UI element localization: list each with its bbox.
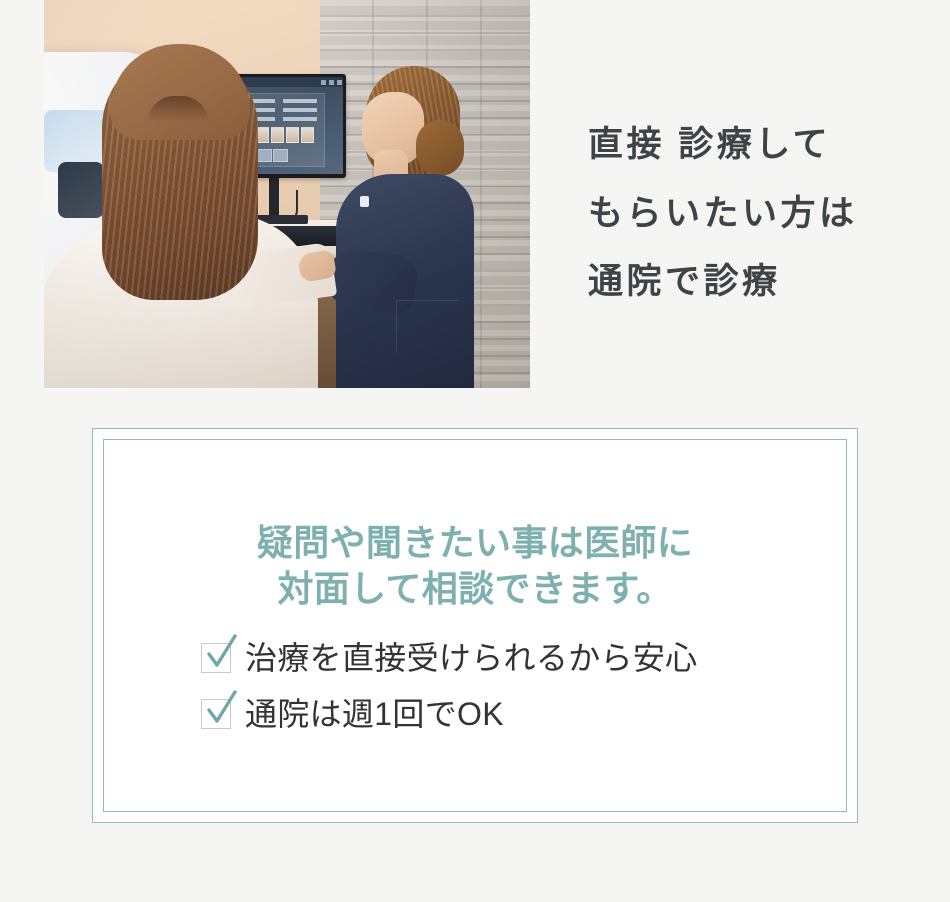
photo-unit-screen <box>58 162 104 218</box>
photo-staff-pocket <box>396 300 459 353</box>
card-heading-line-2: 対面して相談できます。 <box>104 566 846 612</box>
checkbox-checked-icon <box>201 643 231 673</box>
photo-staff-bun <box>416 120 464 176</box>
card-heading-line-1: 疑問や聞きたい事は医師に <box>104 520 846 566</box>
list-item: 通院は週1回でOK <box>201 686 806 742</box>
card-heading: 疑問や聞きたい事は医師に 対面して相談できます。 <box>104 520 846 612</box>
list-item: 治療を直接受けられるから安心 <box>201 630 806 686</box>
photo-staff-badge <box>360 196 369 207</box>
clinic-consultation-photo <box>44 0 530 388</box>
benefits-card-inner-border: 疑問や聞きたい事は医師に 対面して相談できます。 治療を直接受けられるから安心 <box>103 439 847 812</box>
benefit-list: 治療を直接受けられるから安心 通院は週1回でOK <box>201 630 806 742</box>
page-title: 直接 診療して もらいたい方は 通院で診療 <box>588 111 948 316</box>
benefit-label: 治療を直接受けられるから安心 <box>245 642 697 674</box>
benefit-label: 通院は週1回でOK <box>245 698 504 730</box>
checkbox-checked-icon <box>201 699 231 729</box>
headline-line-3: 通院で診療 <box>588 248 948 316</box>
headline-line-1: 直接 診療して <box>588 111 948 179</box>
hero-section: 直接 診療して もらいたい方は 通院で診療 <box>0 0 950 400</box>
benefits-card: 疑問や聞きたい事は医師に 対面して相談できます。 治療を直接受けられるから安心 <box>92 428 858 823</box>
headline-line-2: もらいたい方は <box>588 180 948 248</box>
